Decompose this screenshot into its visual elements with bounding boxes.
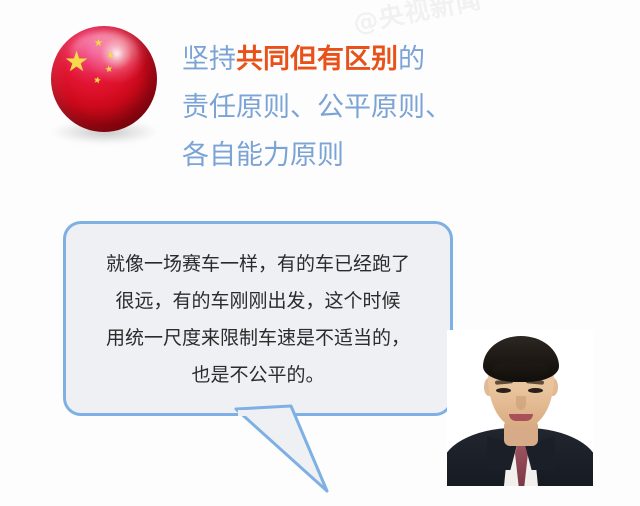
quote-text: 就像一场赛车一样，有的车已经跑了 很远，有的车刚刚出发，这个时候 用统一尺度来限… [66, 246, 450, 394]
portrait-mouth [509, 414, 533, 421]
quote-bubble: 就像一场赛车一样，有的车已经跑了 很远，有的车刚刚出发，这个时候 用统一尺度来限… [63, 221, 453, 416]
headline-line-3: 各自能力原则 [182, 140, 344, 171]
headline-accent: 共同但有区别 [236, 44, 398, 75]
headline: 坚持共同但有区别的 责任原则、公平原则、 各自能力原则 [182, 36, 512, 180]
infographic-canvas: @央视新闻 ★ ★ ★ ★ ★ 坚持共同但有区别的 责任原则、公平原则、 各自能… [0, 0, 640, 506]
portrait-nose [516, 396, 526, 410]
portrait-eye-right [528, 388, 543, 393]
portrait-hair [483, 336, 559, 382]
headline-line-2: 责任原则、公平原则、 [182, 92, 452, 123]
flag-star-small-4: ★ [92, 76, 102, 86]
headline-prefix: 坚持 [182, 44, 236, 75]
flag-star-small-3: ★ [104, 65, 113, 75]
speaker-portrait [447, 330, 593, 486]
flag-star-small-2: ★ [105, 51, 115, 62]
flag-star-large: ★ [64, 48, 89, 76]
portrait-eye-left [496, 388, 511, 393]
headline-suffix: 的 [398, 44, 425, 75]
china-flag-sphere: ★ ★ ★ ★ ★ [46, 24, 164, 148]
flag-star-small-1: ★ [94, 39, 103, 49]
watermark-text: @央视新闻 [350, 0, 484, 40]
sphere-body: ★ ★ ★ ★ ★ [51, 26, 157, 132]
